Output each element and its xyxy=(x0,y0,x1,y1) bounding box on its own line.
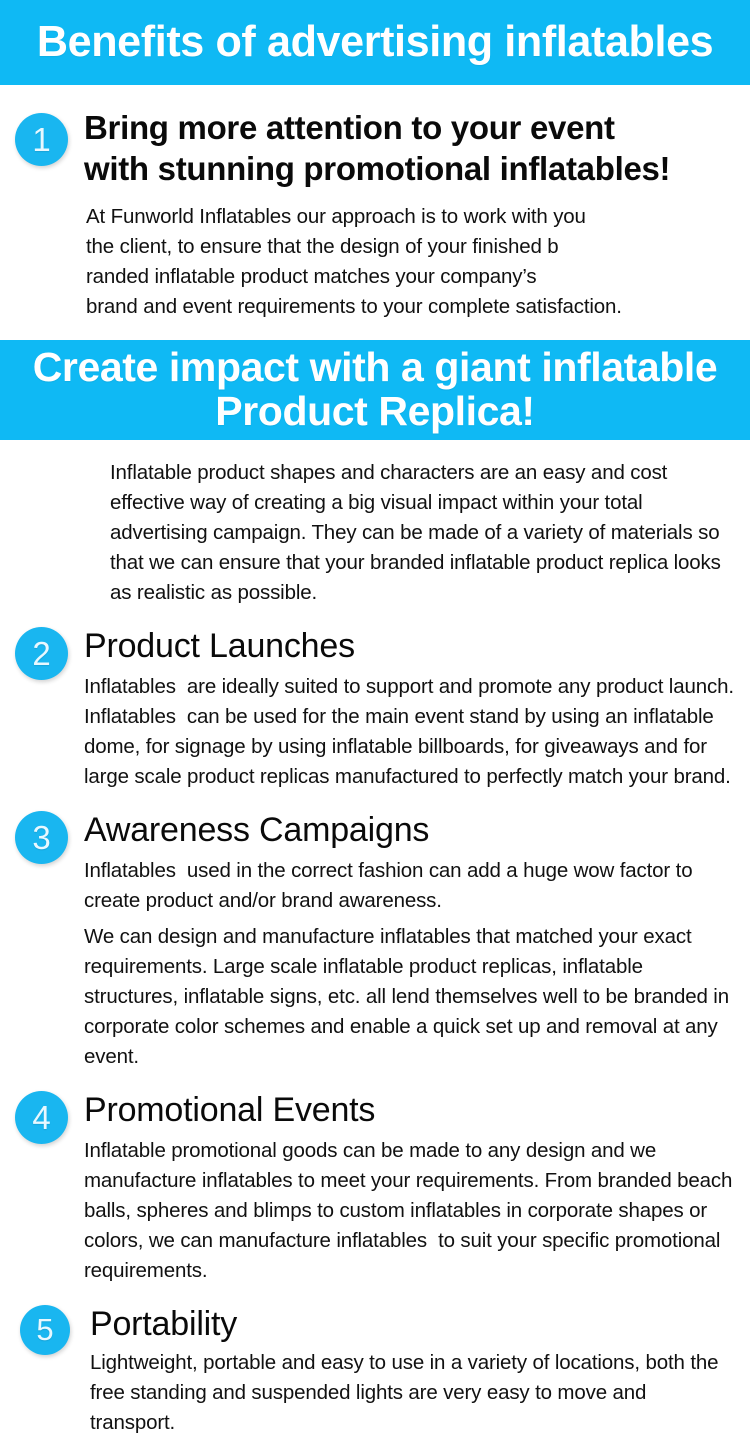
section-3-paragraph-1: Inflatables used in the correct fashion … xyxy=(84,856,750,916)
section-1-title-line2: with stunning promotional inflatables! xyxy=(84,148,750,189)
sub-header-title: Create impact with a giant inflatable Pr… xyxy=(33,346,718,433)
main-header-title: Benefits of advertising inflatables xyxy=(37,19,713,66)
section-1-title: Bring more attention to your event with … xyxy=(84,107,750,190)
section-1-title-line1: Bring more attention to your event xyxy=(84,109,615,146)
section-3-title: Awareness Campaigns xyxy=(84,810,750,850)
section-2: 2 Product Launches Inflatables are ideal… xyxy=(0,626,750,792)
step-number-badge-5: 5 xyxy=(20,1305,70,1355)
section-3-paragraph-2: We can design and manufacture inflatable… xyxy=(84,922,750,1072)
sub-header-banner: Create impact with a giant inflatable Pr… xyxy=(0,340,750,440)
section-2-paragraph: Inflatables are ideally suited to suppor… xyxy=(84,672,750,792)
step-number-badge-3: 3 xyxy=(15,811,68,864)
sub-header-title-line2: Product Replica! xyxy=(33,390,718,433)
section-3: 3 Awareness Campaigns Inflatables used i… xyxy=(0,810,750,1072)
section-1: 1 Bring more attention to your event wit… xyxy=(0,107,750,322)
infographic-page: Benefits of advertising inflatables 1 Br… xyxy=(0,0,750,1436)
section-1-paragraph: At Funworld Inflatables our approach is … xyxy=(84,202,750,322)
main-header-banner: Benefits of advertising inflatables xyxy=(0,0,750,85)
section-4: 4 Promotional Events Inflatable promotio… xyxy=(0,1090,750,1286)
section-4-title: Promotional Events xyxy=(84,1090,750,1130)
step-number-badge-1: 1 xyxy=(15,113,68,166)
section-2-title: Product Launches xyxy=(84,626,750,666)
section-5-title: Portability xyxy=(90,1304,750,1344)
sub-header-title-line1: Create impact with a giant inflatable xyxy=(33,344,718,390)
section-4-paragraph: Inflatable promotional goods can be made… xyxy=(84,1136,750,1286)
product-replica-paragraph: Inflatable product shapes and characters… xyxy=(0,458,750,608)
section-5: 5 Portability Lightweight, portable and … xyxy=(0,1304,750,1436)
section-5-paragraph: Lightweight, portable and easy to use in… xyxy=(90,1348,750,1436)
step-number-badge-2: 2 xyxy=(15,627,68,680)
step-number-badge-4: 4 xyxy=(15,1091,68,1144)
